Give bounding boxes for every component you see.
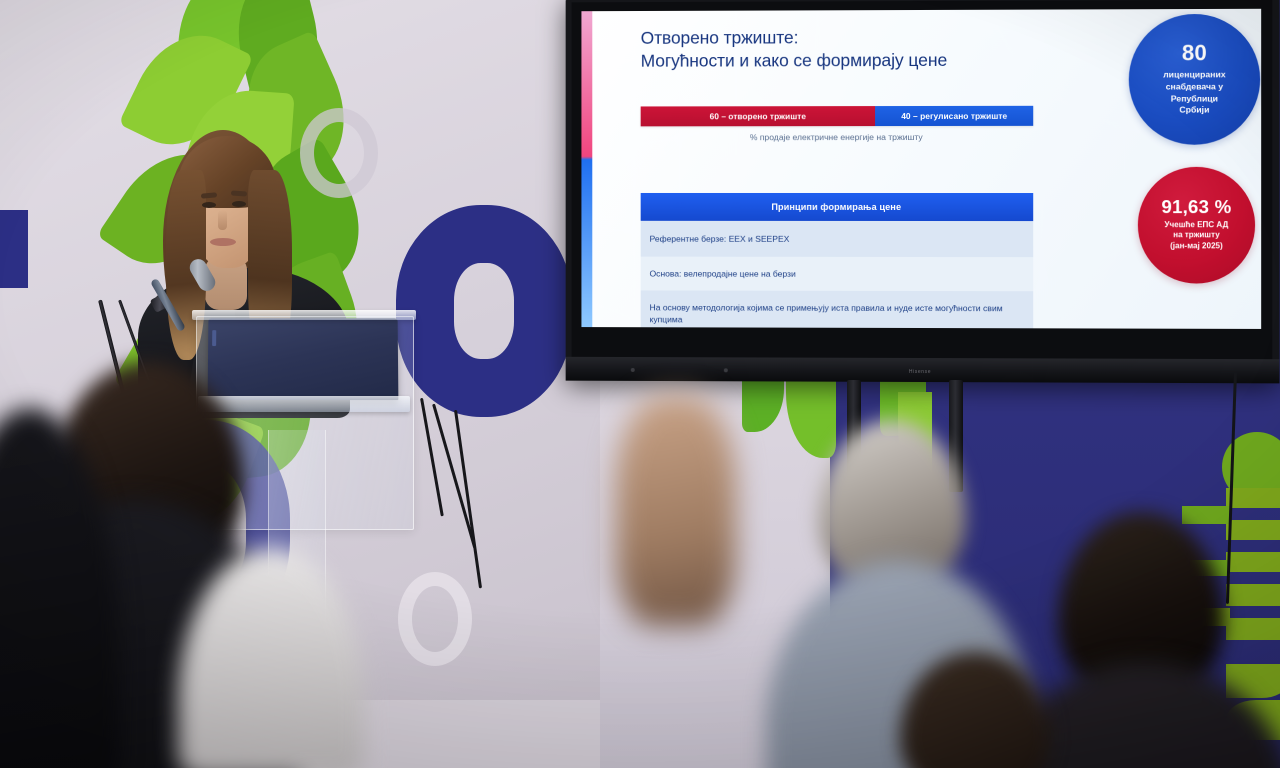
market-bar-caption: % продаје електричне енергије на тржишту xyxy=(641,132,1034,142)
tv-chin: Hisense xyxy=(566,357,1280,384)
audience-blur-shape-left xyxy=(616,396,736,626)
backdrop-stripe-2 xyxy=(1226,520,1280,540)
regulated-market-segment: 40 – регулисано тржиште xyxy=(875,106,1033,126)
laptop-hinge xyxy=(212,330,216,346)
wall-letter-o-navy xyxy=(396,205,572,417)
stat-caption: Учешће ЕПС АДна тржишту(јан-мај 2025) xyxy=(1165,220,1229,252)
wall-square-navy xyxy=(0,210,28,288)
stat-circle-eps-market-share: 91,63 % Учешће ЕПС АДна тржишту(јан-мај … xyxy=(1138,167,1255,284)
stat-caption: лиценциранихснабдевача уРепублициСрбији xyxy=(1163,70,1225,116)
presentation-slide: Отворено тржиште: Могућности и како се ф… xyxy=(581,9,1261,329)
open-market-label: 60 – отворено тржиште xyxy=(710,111,806,121)
table-header-label: Принципи формирања цене xyxy=(771,202,901,212)
screenshot-root: Отворено тржиште: Могућности и како се ф… xyxy=(0,0,1280,768)
price-principles-table: Принципи формирања цене Референтне берзе… xyxy=(641,193,1034,329)
tv-ir-sensor-right xyxy=(724,368,728,372)
stat-value: 91,63 % xyxy=(1161,198,1231,217)
tv-bezel: Отворено тржиште: Могућности и како се ф… xyxy=(572,0,1273,359)
regulated-market-label: 40 – регулисано тржиште xyxy=(901,111,1007,121)
open-market-segment: 60 – отворено тржиште xyxy=(641,106,876,126)
table-row: Референтне берзе: EEX и SEEPEX xyxy=(641,221,1034,257)
wall-letter-o-pale-lower xyxy=(398,572,472,666)
television: Отворено тржиште: Могућности и како се ф… xyxy=(566,0,1280,383)
slide-accent-strip xyxy=(581,11,592,327)
stat-circle-licensed-suppliers: 80 лиценциранихснабдевача уРепублициСрби… xyxy=(1129,14,1260,145)
backdrop-stripe-1 xyxy=(1226,488,1280,508)
table-row-text: Основа: велепродајне цене на берзи xyxy=(650,267,796,280)
slide-content: Отворено тржиште: Могућности и како се ф… xyxy=(635,9,1261,329)
table-row: Основа: велепродајне цене на берзи xyxy=(641,257,1034,292)
laptop-keyboard-base xyxy=(198,396,410,412)
backdrop-stripe-5 xyxy=(1226,618,1280,640)
slide-title-line-1: Отворено тржиште: xyxy=(641,25,1090,50)
backdrop-stripe-4 xyxy=(1226,584,1280,606)
wall-letter-o-pale xyxy=(300,108,378,198)
slide-title-line-2: Могућности и како се формирају цене xyxy=(641,49,1090,73)
table-row-text: На основу методологија којима се примењу… xyxy=(650,301,1025,327)
table-header-row: Принципи формирања цене xyxy=(641,193,1034,221)
market-split-bar: 60 – отворено тржиште 40 – регулисано тр… xyxy=(641,106,1034,127)
podium-top-edge xyxy=(192,310,416,320)
stat-value: 80 xyxy=(1182,43,1207,65)
backdrop-stripe-7 xyxy=(1182,506,1230,524)
table-row-text: Референтне берзе: EEX и SEEPEX xyxy=(650,233,790,246)
tv-brand-label: Hisense xyxy=(909,369,931,375)
laptop xyxy=(208,318,399,400)
backdrop-stripe-3 xyxy=(1226,552,1280,572)
tv-ir-sensor-left xyxy=(631,368,635,372)
table-row: На основу методологија којима се примењу… xyxy=(641,290,1034,329)
slide-title: Отворено тржиште: Могућности и како се ф… xyxy=(641,25,1090,73)
